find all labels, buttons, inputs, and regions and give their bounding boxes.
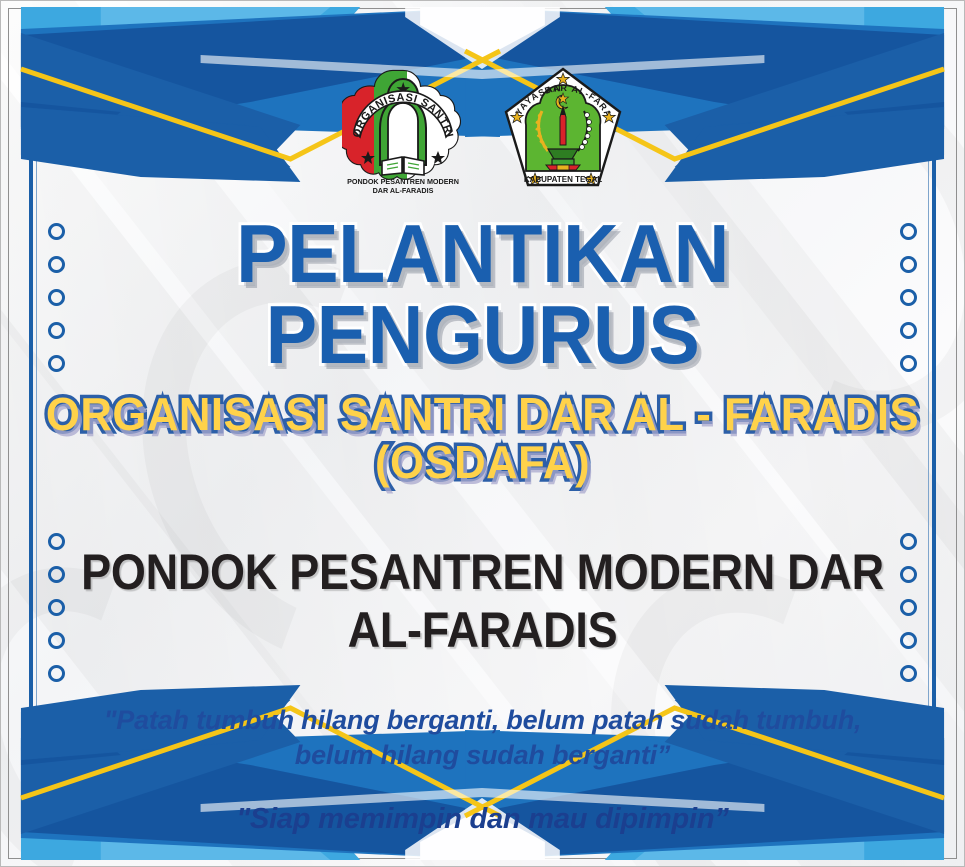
text-content: PELANTIKAN PENGURUS ORGANISASI SANTRI DA… bbox=[1, 213, 964, 836]
motto-line-1: "Patah tumbuh hilang berganti, belum pat… bbox=[1, 703, 964, 738]
subtitle-block: ORGANISASI SANTRI DAR AL - FARADIS (OSDA… bbox=[25, 390, 940, 488]
page-title-main: PELANTIKAN PENGURUS bbox=[35, 213, 931, 376]
subtitle-line-1: ORGANISASI SANTRI DAR AL - FARADIS bbox=[25, 390, 940, 439]
banner-poster: ORGANISASI SANTRI PONDOK PESANTREN MODER… bbox=[0, 0, 965, 867]
yayasan-bottom-text: KABUPATEN TEGAL bbox=[523, 175, 601, 184]
motto-secondary: "Siap memimpin dan mau dipimpin” bbox=[1, 803, 964, 836]
osdafa-logo: ORGANISASI SANTRI PONDOK PESANTREN MODER… bbox=[342, 65, 464, 197]
motto-primary: "Patah tumbuh hilang berganti, belum pat… bbox=[1, 703, 964, 773]
school-name: PONDOK PESANTREN MODERN DAR AL-FARADIS bbox=[49, 543, 916, 659]
osdafa-bottom-line2: DAR AL-FARADIS bbox=[372, 186, 433, 195]
motto-line-2: belum hilang sudah berganti” bbox=[1, 738, 964, 773]
subtitle-line-2: (OSDAFA) bbox=[25, 438, 940, 487]
logo-row: ORGANISASI SANTRI PONDOK PESANTREN MODER… bbox=[1, 65, 964, 197]
yayasan-logo: YAYASAN DAR AL-FARADIS KABUPATEN TEGAL bbox=[502, 65, 624, 197]
osdafa-bottom-line1: PONDOK PESANTREN MODERN bbox=[347, 177, 459, 186]
